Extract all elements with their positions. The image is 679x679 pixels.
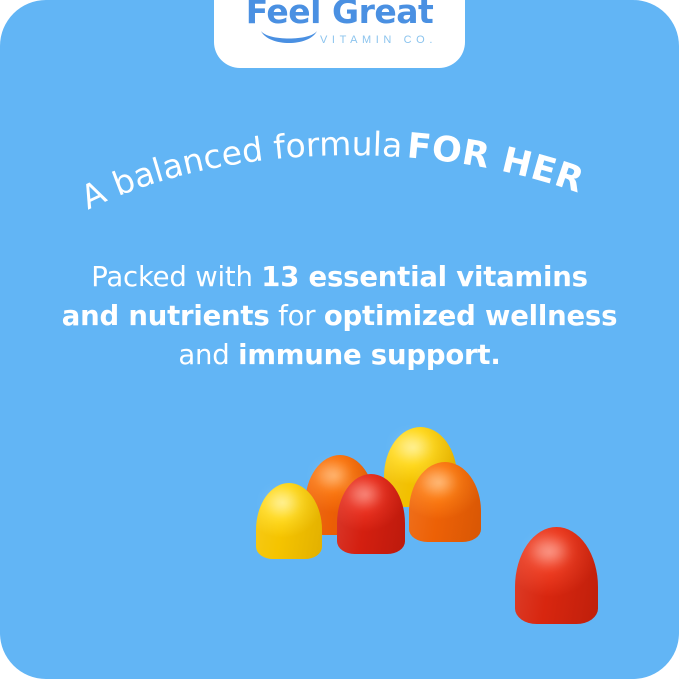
- gummy-highlight: [398, 438, 426, 455]
- gummy-highlight: [269, 494, 295, 511]
- gummy-highlight: [351, 486, 377, 502]
- gummy-red-solo: [515, 527, 598, 624]
- gummy-highlight: [424, 474, 451, 490]
- blue-background-panel: Feel Great VITAMIN CO. A balanced formul…: [0, 0, 679, 679]
- gummy-yellow-front: [256, 483, 322, 559]
- gummy-red-front: [337, 474, 405, 554]
- gummy-orange-right: [409, 462, 481, 542]
- gummy-highlight: [533, 541, 565, 561]
- product-image-canvas: Feel Great VITAMIN CO. A balanced formul…: [0, 0, 679, 679]
- gummy-shading: [409, 462, 481, 542]
- gummy-shading: [337, 474, 405, 554]
- gummy-cluster: [0, 0, 679, 679]
